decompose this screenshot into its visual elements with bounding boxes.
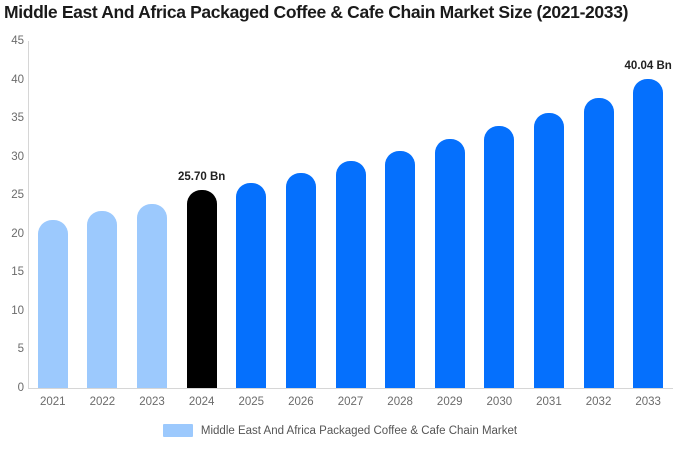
y-axis-tick: 25 bbox=[0, 189, 24, 201]
bar-2031[interactable] bbox=[534, 41, 564, 388]
bar-2021[interactable] bbox=[38, 41, 68, 388]
bar-2025[interactable] bbox=[236, 41, 266, 388]
bar-rect[interactable] bbox=[236, 183, 266, 388]
y-axis-tick: 40 bbox=[0, 74, 24, 86]
bar-2027[interactable] bbox=[336, 41, 366, 388]
y-axis-tick: 0 bbox=[0, 382, 24, 394]
bar-rect[interactable] bbox=[385, 151, 415, 388]
legend-label: Middle East And Africa Packaged Coffee &… bbox=[201, 425, 517, 437]
bar-rect[interactable] bbox=[584, 98, 614, 388]
bar-2033[interactable] bbox=[633, 41, 663, 388]
x-axis-tick-2024: 2024 bbox=[177, 396, 227, 408]
y-axis-tick: 20 bbox=[0, 228, 24, 240]
x-axis-tick-2029: 2029 bbox=[425, 396, 475, 408]
bar-2029[interactable] bbox=[435, 41, 465, 388]
bar-rect[interactable] bbox=[87, 211, 117, 388]
bar-2028[interactable] bbox=[385, 41, 415, 388]
bar-rect[interactable] bbox=[534, 113, 564, 388]
x-axis-tick-2030: 2030 bbox=[475, 396, 525, 408]
x-axis-tick-2021: 2021 bbox=[28, 396, 78, 408]
x-axis-tick-2022: 2022 bbox=[78, 396, 128, 408]
x-axis-line bbox=[28, 388, 673, 389]
bar-chart: Middle East And Africa Packaged Coffee &… bbox=[0, 0, 680, 450]
bar-rect[interactable] bbox=[137, 204, 167, 388]
bar-2024[interactable] bbox=[187, 41, 217, 388]
bar-rect[interactable] bbox=[286, 173, 316, 388]
y-axis-tick: 45 bbox=[0, 35, 24, 47]
bar-value-label-2024: 25.70 Bn bbox=[178, 171, 225, 183]
x-axis-tick-2025: 2025 bbox=[226, 396, 276, 408]
x-axis-tick-2026: 2026 bbox=[276, 396, 326, 408]
y-axis-tick: 30 bbox=[0, 151, 24, 163]
x-axis-tick-2027: 2027 bbox=[326, 396, 376, 408]
bar-2026[interactable] bbox=[286, 41, 316, 388]
y-axis-tick: 35 bbox=[0, 112, 24, 124]
bar-value-label-2033: 40.04 Bn bbox=[625, 60, 672, 72]
bar-rect[interactable] bbox=[187, 190, 217, 388]
bar-rect[interactable] bbox=[336, 161, 366, 388]
x-axis-tick-2023: 2023 bbox=[127, 396, 177, 408]
x-axis-tick-2032: 2032 bbox=[574, 396, 624, 408]
x-axis-tick-2031: 2031 bbox=[524, 396, 574, 408]
y-axis-tick: 5 bbox=[0, 343, 24, 355]
bar-rect[interactable] bbox=[435, 139, 465, 388]
bar-rect[interactable] bbox=[38, 220, 68, 388]
bar-2030[interactable] bbox=[484, 41, 514, 388]
chart-legend: Middle East And Africa Packaged Coffee &… bbox=[0, 424, 680, 437]
x-axis-tick-2033: 2033 bbox=[623, 396, 673, 408]
y-axis-tick-labels: 051015202530354045 bbox=[0, 0, 24, 450]
bar-2032[interactable] bbox=[584, 41, 614, 388]
y-axis-tick: 10 bbox=[0, 305, 24, 317]
y-axis-tick: 15 bbox=[0, 266, 24, 278]
bar-rect[interactable] bbox=[484, 126, 514, 388]
bar-2022[interactable] bbox=[87, 41, 117, 388]
plot-area bbox=[28, 41, 673, 388]
chart-title: Middle East And Africa Packaged Coffee &… bbox=[4, 2, 680, 23]
legend-swatch bbox=[163, 424, 193, 437]
x-axis-tick-2028: 2028 bbox=[375, 396, 425, 408]
bar-rect[interactable] bbox=[633, 79, 663, 388]
bar-2023[interactable] bbox=[137, 41, 167, 388]
